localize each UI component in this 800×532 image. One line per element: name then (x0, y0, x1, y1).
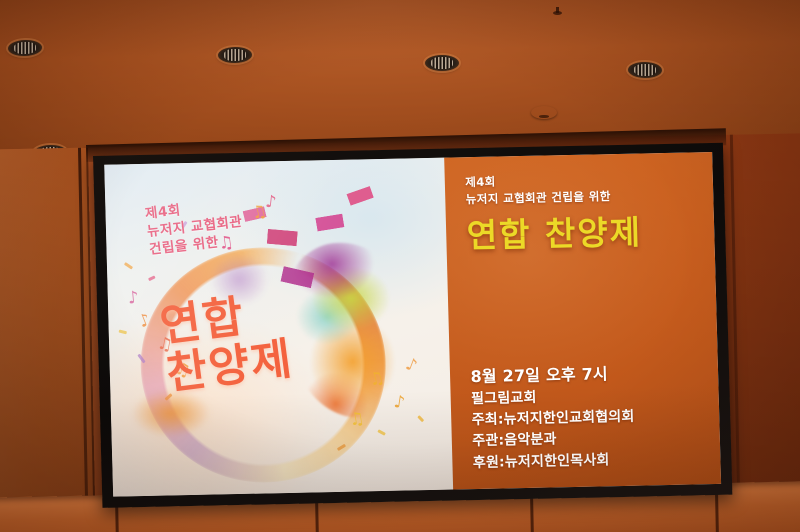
recessed-downlight (425, 55, 459, 71)
confetti-fleck (148, 275, 156, 281)
music-note-icon: ♪ (392, 394, 405, 412)
music-note-icon: ♫ (348, 411, 366, 430)
poster-kicker-text: 제4회 뉴저지 교협회관 건립을 위한 (144, 194, 245, 259)
poster-title-text: 연합 찬양제 (158, 287, 297, 397)
screen-frame: ♫ ♪ ♫ ♪ ♫ ♪ ♫ ♫ ♪ ♫ ♪ (93, 143, 732, 508)
flying-bird-icon (267, 229, 298, 246)
flying-bird-icon (315, 214, 344, 232)
sprinkler-head (553, 7, 562, 16)
detail-host: 주최:뉴저지한인교회협의회 (471, 407, 634, 432)
poster-info-panel: 제4회 뉴저지 교협회관 건립을 위한 연합 찬양제 8월 27일 오후 7시 … (445, 152, 721, 489)
music-note-icon: ♪ (403, 356, 419, 376)
detail-sponsor: 후원:뉴저지한인목사회 (473, 449, 636, 474)
event-details: 8월 27일 오후 7시 필그림교회 주최:뉴저지한인교회협의회 주관:음악분과… (470, 361, 636, 474)
room-photo: ♫ ♪ ♫ ♪ ♫ ♪ ♫ ♫ ♪ ♫ ♪ (0, 0, 800, 532)
confetti-fleck (124, 262, 133, 269)
info-main-title: 연합 찬양제 (466, 213, 698, 254)
music-note-icon: ♪ (136, 312, 152, 332)
flying-bird-icon (346, 186, 373, 206)
poster-artwork: ♫ ♪ ♫ ♪ ♫ ♪ ♫ ♫ ♪ ♫ ♪ (104, 158, 453, 497)
projection-screen: ♫ ♪ ♫ ♪ ♫ ♪ ♫ ♫ ♪ ♫ ♪ (93, 143, 732, 508)
recessed-downlight (628, 62, 662, 79)
confetti-fleck (377, 430, 385, 436)
detail-datetime: 8월 27일 오후 7시 (470, 361, 633, 389)
screen-surface: ♫ ♪ ♫ ♪ ♫ ♪ ♫ ♫ ♪ ♫ ♪ (104, 152, 721, 497)
music-note-icon: ♪ (264, 194, 277, 212)
info-kicker-text: 제4회 뉴저지 교협회관 건립을 위한 (465, 169, 697, 208)
confetti-fleck (418, 415, 425, 422)
smoke-detector (531, 106, 557, 119)
confetti-fleck (119, 329, 127, 334)
music-note-icon: ♪ (128, 290, 140, 308)
